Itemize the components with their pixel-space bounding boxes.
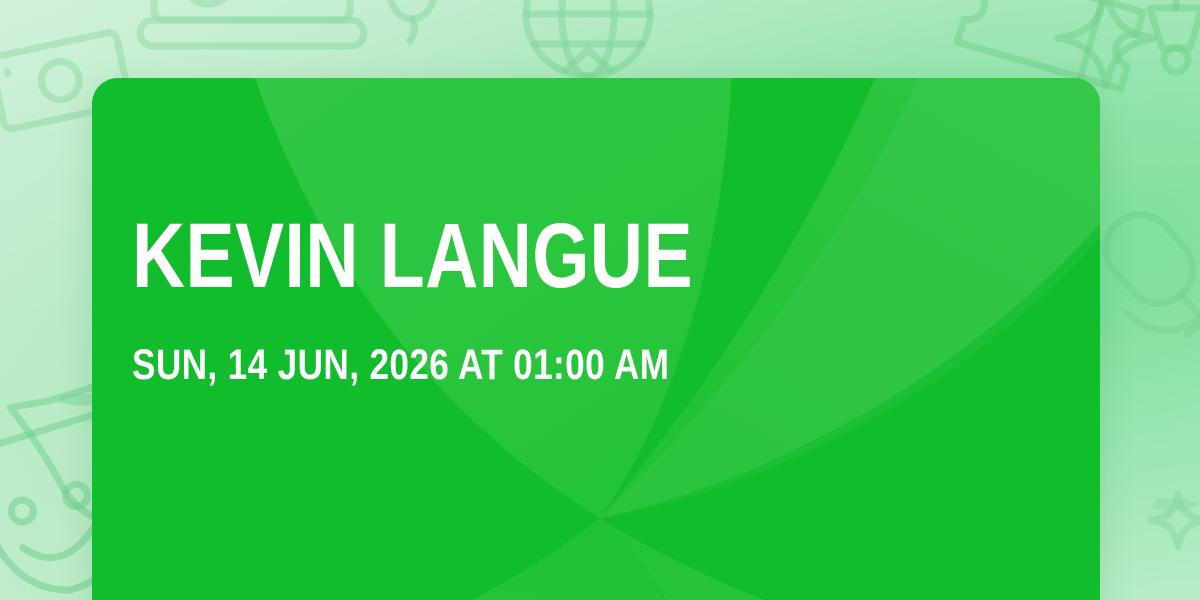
event-datetime: SUN, 14 JUN, 2026 AT 01:00 AM: [132, 344, 669, 387]
event-card[interactable]: KEVIN LANGUE SUN, 14 JUN, 2026 AT 01:00 …: [92, 78, 1100, 600]
event-title: KEVIN LANGUE: [132, 210, 693, 302]
event-card-banner: KEVIN LANGUE SUN, 14 JUN, 2026 AT 01:00 …: [0, 0, 1200, 600]
card-text-block: KEVIN LANGUE SUN, 14 JUN, 2026 AT 01:00 …: [132, 78, 952, 600]
